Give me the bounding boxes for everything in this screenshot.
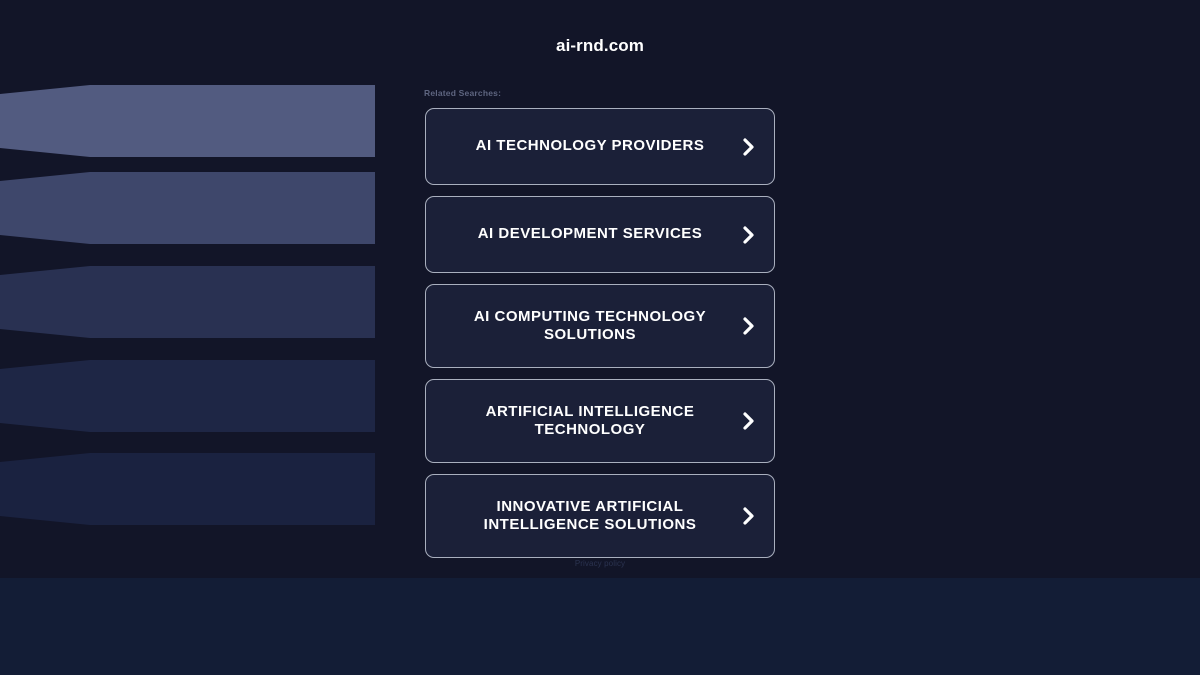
chevron-right-icon <box>741 224 757 246</box>
related-search-label-4: ARTIFICIAL INTELLIGENCE TECHNOLOGY <box>486 403 695 440</box>
related-search-button-5[interactable]: INNOVATIVE ARTIFICIAL INTELLIGENCE SOLUT… <box>425 474 775 558</box>
chevron-right-icon <box>741 315 757 337</box>
related-search-button-1[interactable]: AI TECHNOLOGY PROVIDERS <box>425 108 775 185</box>
related-search-label-2: AI DEVELOPMENT SERVICES <box>478 225 703 243</box>
related-search-button-4[interactable]: ARTIFICIAL INTELLIGENCE TECHNOLOGY <box>425 379 775 463</box>
chevron-right-icon <box>741 505 757 527</box>
related-search-button-2[interactable]: AI DEVELOPMENT SERVICES <box>425 196 775 273</box>
page-root: ai-rnd.com Related Searches: AI TECHNOLO… <box>0 0 1200 675</box>
page-content: ai-rnd.com Related Searches: AI TECHNOLO… <box>0 0 1200 675</box>
chevron-right-icon <box>741 410 757 432</box>
page-title: ai-rnd.com <box>0 36 1200 56</box>
related-search-label-1: AI TECHNOLOGY PROVIDERS <box>476 137 705 155</box>
chevron-right-icon <box>741 136 757 158</box>
related-search-label-3: AI COMPUTING TECHNOLOGY SOLUTIONS <box>474 308 706 345</box>
related-search-button-3[interactable]: AI COMPUTING TECHNOLOGY SOLUTIONS <box>425 284 775 368</box>
related-searches-list: AI TECHNOLOGY PROVIDERS AI DEVELOPMENT S… <box>425 108 775 558</box>
related-searches-label: Related Searches: <box>424 88 501 98</box>
privacy-policy-link[interactable]: Privacy policy <box>575 559 625 568</box>
footer: Privacy policy <box>0 553 1200 571</box>
related-search-label-5: INNOVATIVE ARTIFICIAL INTELLIGENCE SOLUT… <box>484 498 697 535</box>
